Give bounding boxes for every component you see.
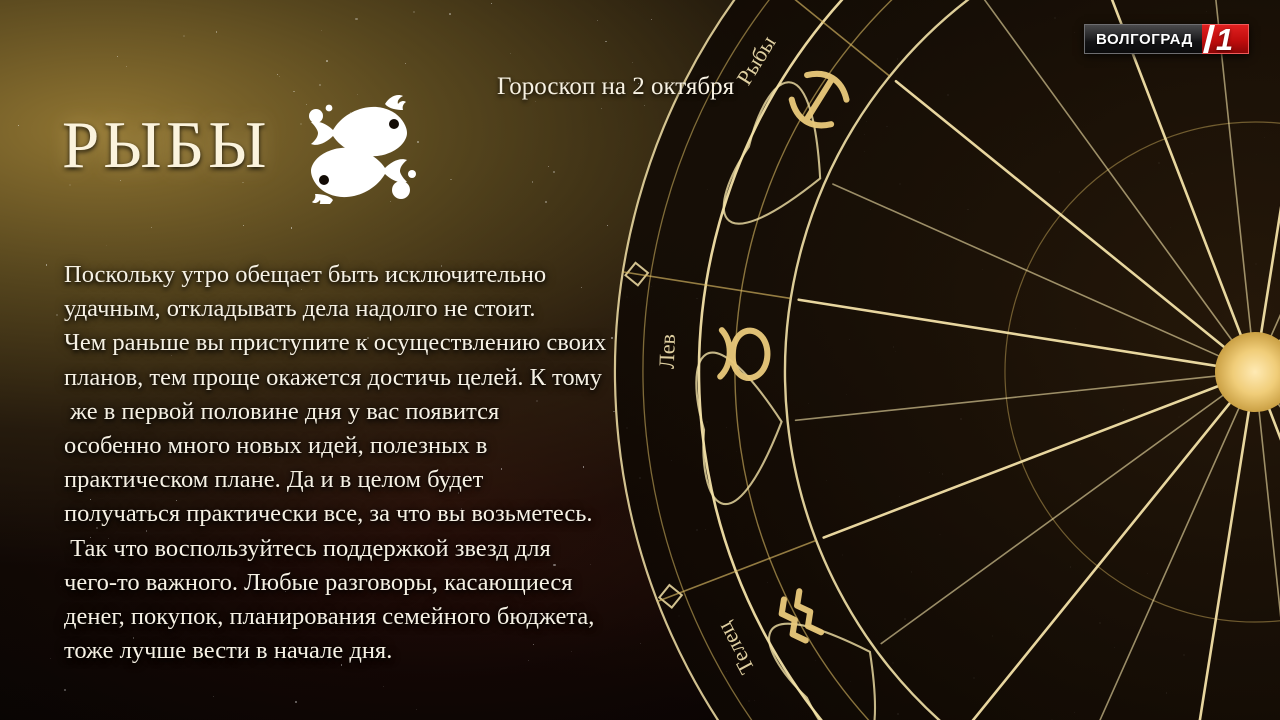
page-title: РЫБЫ (62, 112, 271, 179)
horoscope-line: практическом плане. Да и в целом будет (64, 463, 684, 497)
horoscope-line: планов, тем проще окажется достичь целей… (64, 361, 684, 395)
horoscope-graphic: БлизнецыРакРыбыЛевТелецСтрелецОвенВодоле… (0, 0, 1280, 720)
channel-logo: ВОЛГОГРАД 1 (1084, 24, 1249, 54)
horoscope-line: чего-то важного. Любые разговоры, касающ… (64, 566, 684, 600)
channel-name-plate: ВОЛГОГРАД (1084, 24, 1202, 54)
sign-heading: РЫБЫ (62, 86, 421, 204)
horoscope-line: тоже лучше вести в начале дня. (64, 634, 684, 668)
channel-number: 1 (1216, 24, 1233, 54)
horoscope-line: получаться практически все, за что вы во… (64, 497, 684, 531)
channel-number-plate: 1 (1202, 24, 1249, 54)
horoscope-line: денег, покупок, планирования семейного б… (64, 600, 684, 634)
horoscope-line: удачным, откладывать дела надолго не сто… (64, 292, 684, 326)
logo-slash-icon (1202, 24, 1216, 54)
horoscope-body: Поскольку утро обещает быть исключительн… (64, 258, 684, 668)
horoscope-line: же в первой половине дня у вас появится (64, 395, 684, 429)
horoscope-line: Так что воспользуйтесь поддержкой звезд … (64, 532, 684, 566)
horoscope-line: Поскольку утро обещает быть исключительн… (64, 258, 684, 292)
horoscope-line: Чем раньше вы приступите к осуществлению… (64, 326, 684, 360)
pisces-two-fish-icon (297, 86, 421, 204)
horoscope-line: особенно много новых идей, полезных в (64, 429, 684, 463)
date-label: Гороскоп на 2 октября (497, 73, 734, 101)
channel-name: ВОЛГОГРАД (1096, 31, 1193, 48)
